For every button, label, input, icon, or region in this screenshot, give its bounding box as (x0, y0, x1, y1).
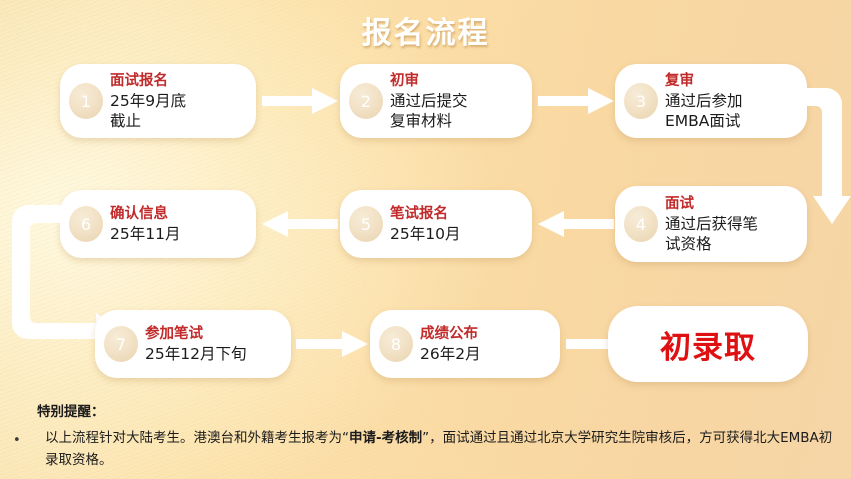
step-heading: 参加笔试 (145, 325, 246, 344)
step-heading: 面试 (665, 195, 758, 214)
bullet-icon: • (13, 432, 21, 450)
step-body: 25年10月 (390, 224, 460, 244)
step-text: 参加笔试 25年12月下旬 (145, 325, 254, 364)
step-body: 26年2月 (420, 344, 481, 364)
step-number-badge: 2 (349, 83, 383, 119)
step-text: 面试 通过后获得笔 试资格 (665, 195, 766, 254)
step-text: 面试报名 25年9月底 截止 (110, 72, 194, 131)
step-number-badge: 7 (104, 326, 138, 362)
step-body-line: 通过后提交 (390, 91, 468, 111)
result-pill[interactable]: 初录取 (608, 306, 808, 382)
step-text: 笔试报名 25年10月 (390, 205, 468, 244)
flow-step-4[interactable]: 4 面试 通过后获得笔 试资格 (615, 186, 807, 262)
step-heading: 成绩公布 (420, 325, 481, 344)
flow-step-8[interactable]: 8 成绩公布 26年2月 (370, 310, 560, 378)
flow-step-1[interactable]: 1 面试报名 25年9月底 截止 (60, 64, 256, 138)
note-lead: 以上流程针对大陆考生。港澳台和外籍考生报考为“ (45, 430, 349, 446)
step-body-line: 26年2月 (420, 344, 481, 364)
step-number-badge: 4 (624, 206, 658, 242)
step-text: 初审 通过后提交 复审材料 (390, 72, 476, 131)
page-title: 报名流程 (0, 8, 851, 52)
step-body: 通过后参加 EMBA面试 (665, 91, 743, 131)
arrow-left-step4-to-step5 (538, 211, 614, 237)
step-heading: 笔试报名 (390, 205, 460, 224)
step-body: 25年12月下旬 (145, 344, 246, 364)
step-number-badge: 1 (69, 83, 103, 119)
step-number-badge: 8 (379, 326, 413, 362)
step-heading: 复审 (665, 72, 743, 91)
step-body-line: 25年10月 (390, 224, 460, 244)
result-label: 初录取 (660, 322, 756, 367)
flow-step-7[interactable]: 7 参加笔试 25年12月下旬 (95, 310, 291, 378)
note-emphasis: 申请-考核制 (349, 430, 422, 446)
step-number-badge: 5 (349, 206, 383, 242)
step-body: 25年9月底 截止 (110, 91, 186, 131)
step-body: 通过后获得笔 试资格 (665, 214, 758, 254)
flow-step-5[interactable]: 5 笔试报名 25年10月 (340, 190, 532, 258)
step-body-line: EMBA面试 (665, 111, 743, 131)
arrow-right-step2-to-step3 (538, 88, 614, 114)
slide-canvas: 报名流程 1 面试报名 25年9月底 截止 2 初审 通过后提交 复审材料 3 (0, 0, 851, 479)
step-body-line: 通过后获得笔 (665, 214, 758, 234)
flow-step-2[interactable]: 2 初审 通过后提交 复审材料 (340, 64, 532, 138)
step-text: 成绩公布 26年2月 (420, 325, 489, 364)
step-body-line: 25年12月下旬 (145, 344, 246, 364)
step-heading: 面试报名 (110, 72, 186, 91)
arrow-right-step1-to-step2 (262, 88, 338, 114)
arrow-right-step7-to-step8 (296, 331, 368, 357)
step-body-line: 通过后参加 (665, 91, 743, 111)
step-heading: 初审 (390, 72, 468, 91)
step-body-line: 试资格 (665, 234, 758, 254)
step-body-line: 25年9月底 (110, 91, 186, 111)
note-body: 以上流程针对大陆考生。港澳台和外籍考生报考为“申请-考核制”，面试通过且通过北京… (45, 427, 845, 471)
step-body-line: 复审材料 (390, 111, 468, 131)
step-number-badge: 3 (624, 83, 658, 119)
step-body: 通过后提交 复审材料 (390, 91, 468, 131)
arrow-left-step5-to-step6 (262, 211, 338, 237)
note-title: 特别提醒： (37, 400, 105, 420)
step-body-line: 截止 (110, 111, 186, 131)
step-text: 复审 通过后参加 EMBA面试 (665, 72, 751, 131)
flow-step-3[interactable]: 3 复审 通过后参加 EMBA面试 (615, 64, 807, 138)
